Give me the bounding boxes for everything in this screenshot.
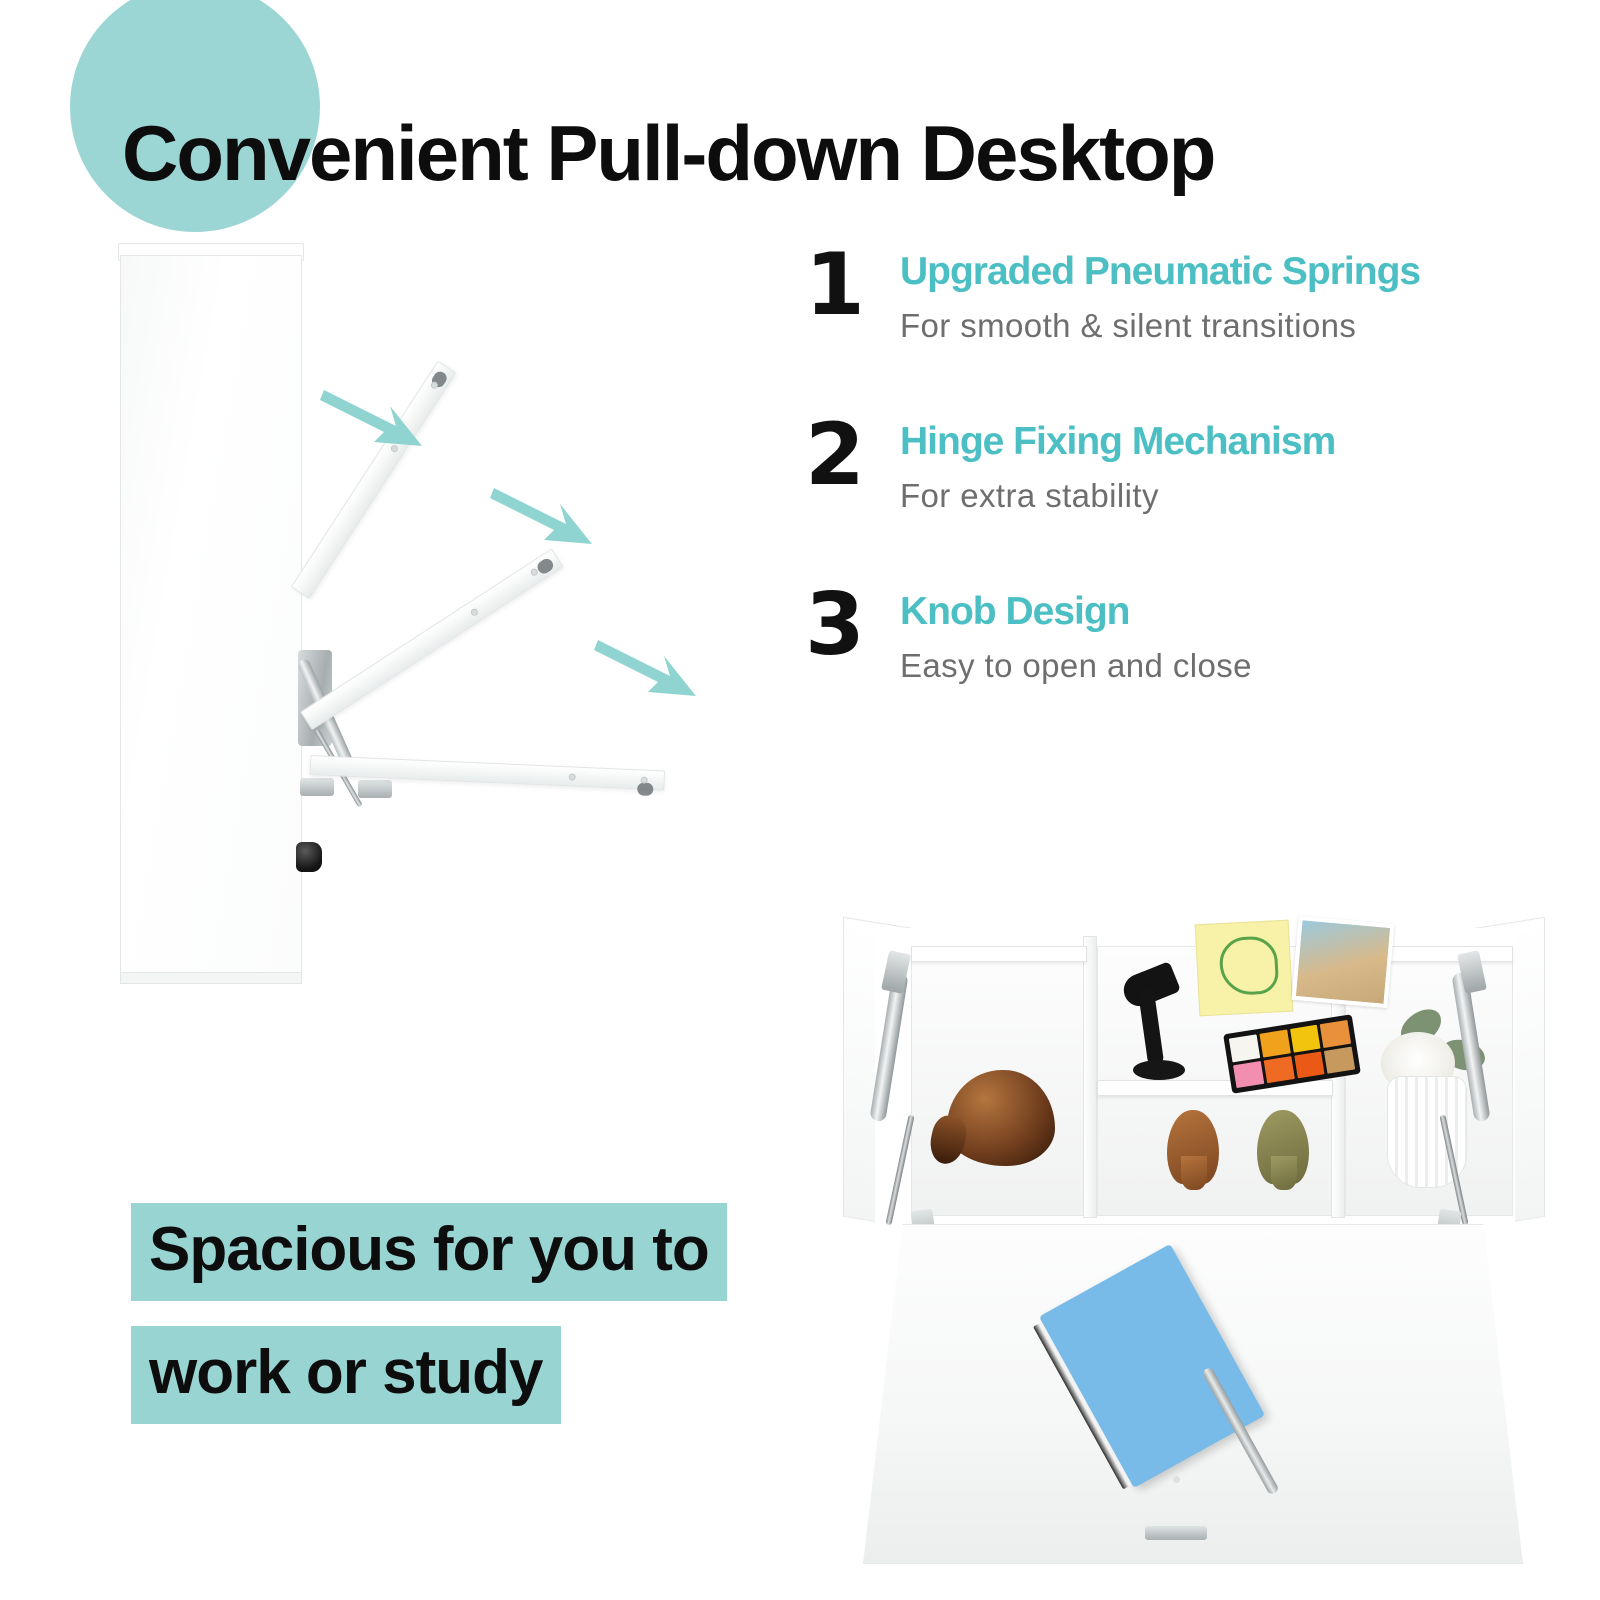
infographic-canvas: Convenient Pull-down Desktop bbox=[0, 0, 1600, 1600]
dog-figurine-brown bbox=[1167, 1110, 1219, 1184]
feature-number: 3 bbox=[805, 582, 862, 668]
feature-text: Knob Design Easy to open and close bbox=[900, 590, 1252, 685]
screw-dot bbox=[569, 773, 576, 780]
cabinet-interior bbox=[875, 928, 1515, 1228]
panel-edge-cap bbox=[637, 782, 654, 796]
sticky-note bbox=[1195, 920, 1294, 1017]
feature-list: 1 Upgraded Pneumatic Springs For smooth … bbox=[800, 240, 1520, 750]
cabinet-side-panel bbox=[120, 255, 302, 983]
motion-arrow-middle-icon bbox=[488, 478, 608, 558]
highlight-line-2: work or study bbox=[131, 1326, 561, 1424]
desktop-panel-middle bbox=[300, 548, 564, 730]
feature-title: Upgraded Pneumatic Springs bbox=[900, 250, 1420, 295]
screw-dot bbox=[470, 607, 480, 617]
dog-figurine-olive bbox=[1257, 1110, 1309, 1184]
desk-lamp-base bbox=[1133, 1060, 1185, 1080]
flower-doodle-icon bbox=[1218, 935, 1279, 996]
feature-description: Easy to open and close bbox=[900, 647, 1252, 685]
feature-item-3: 3 Knob Design Easy to open and close bbox=[800, 580, 1520, 750]
hinge-bracket-lower bbox=[300, 778, 334, 796]
feature-text: Upgraded Pneumatic Springs For smooth & … bbox=[900, 250, 1420, 345]
motion-arrow-bottom-icon bbox=[592, 630, 712, 710]
feature-description: For smooth & silent transitions bbox=[900, 307, 1420, 345]
pull-down-desk-side-view bbox=[100, 230, 820, 990]
feature-text: Hinge Fixing Mechanism For extra stabili… bbox=[900, 420, 1335, 515]
knob-icon bbox=[296, 842, 322, 872]
motion-arrow-top-icon bbox=[318, 380, 438, 460]
feature-item-1: 1 Upgraded Pneumatic Springs For smooth … bbox=[800, 240, 1520, 410]
surface-hole bbox=[1173, 1476, 1180, 1483]
panel-edge-cap bbox=[535, 556, 555, 576]
feature-number: 2 bbox=[805, 412, 862, 498]
feature-title: Hinge Fixing Mechanism bbox=[900, 420, 1335, 465]
feature-title: Knob Design bbox=[900, 590, 1252, 635]
photo-card bbox=[1292, 916, 1395, 1008]
hinge-bracket-mid bbox=[358, 780, 392, 798]
open-cabinet-photo bbox=[845, 928, 1545, 1588]
shelf-left-top bbox=[911, 946, 1087, 962]
highlight-callout: Spacious for you to work or study bbox=[131, 1203, 727, 1424]
feature-description: For extra stability bbox=[900, 477, 1335, 515]
feature-item-2: 2 Hinge Fixing Mechanism For extra stabi… bbox=[800, 410, 1520, 580]
page-title: Convenient Pull-down Desktop bbox=[122, 114, 1214, 192]
magnetic-latch bbox=[1145, 1526, 1207, 1540]
cabinet-divider-left bbox=[1083, 936, 1097, 1218]
highlight-line-1: Spacious for you to bbox=[131, 1203, 727, 1301]
cabinet-bottom-cap bbox=[120, 972, 302, 984]
feature-number: 1 bbox=[805, 242, 862, 328]
